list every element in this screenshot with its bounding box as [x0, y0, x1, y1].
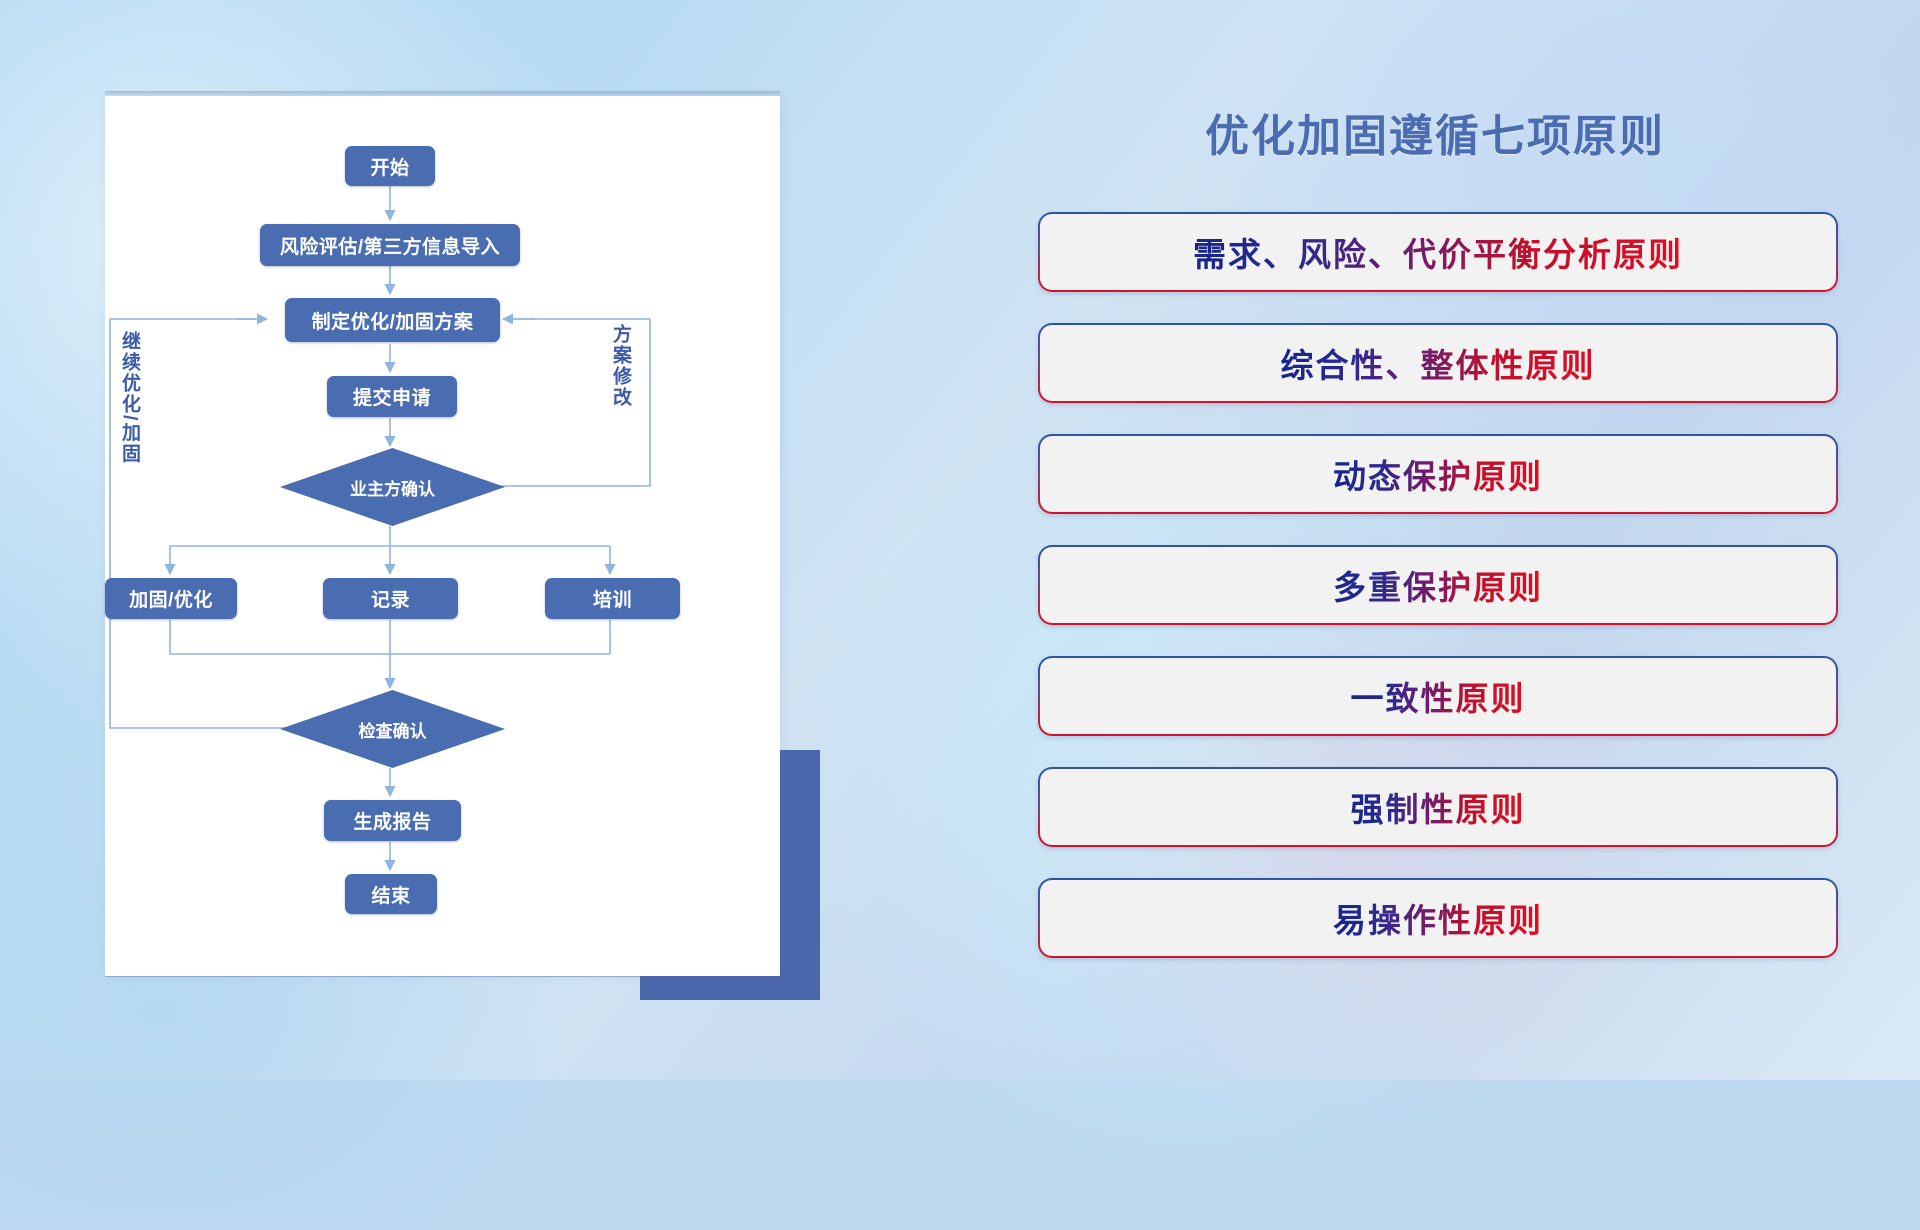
principles-panel: 优化加固遵循七项原则 需求、风险、代价平衡分析原则 综合性、整体性原则 动态保护… [1020, 100, 1850, 1000]
principle-label: 一致性原则 [1351, 672, 1526, 720]
principle-pill: 强制性原则 [1038, 767, 1838, 847]
principle-pill: 一致性原则 [1038, 656, 1838, 736]
principle-pill: 需求、风险、代价平衡分析原则 [1038, 212, 1838, 292]
principle-pill-inner: 易操作性原则 [1040, 880, 1836, 956]
flowchart: 开始 风险评估/第三方信息导入 制定优化/加固方案 提交申请 业主方确认 加固/… [105, 96, 780, 976]
principle-item-7[interactable]: 易操作性原则 [1038, 878, 1838, 958]
principle-item-5[interactable]: 一致性原则 [1038, 656, 1838, 736]
flowchart-card: 开始 风险评估/第三方信息导入 制定优化/加固方案 提交申请 业主方确认 加固/… [105, 96, 780, 976]
flow-node-check-confirm[interactable]: 检查确认 [280, 690, 505, 768]
flow-node-end[interactable]: 结束 [345, 874, 437, 914]
flow-node-reinforce[interactable]: 加固/优化 [105, 578, 237, 619]
principle-pill-inner: 综合性、整体性原则 [1040, 325, 1836, 401]
principle-label: 易操作性原则 [1333, 894, 1543, 942]
principle-pill-inner: 强制性原则 [1040, 769, 1836, 845]
flow-node-submit-application[interactable]: 提交申请 [327, 376, 457, 417]
principle-pill-inner: 动态保护原则 [1040, 436, 1836, 512]
principle-pill: 多重保护原则 [1038, 545, 1838, 625]
flow-node-owner-confirm[interactable]: 业主方确认 [280, 448, 505, 526]
panel-title: 优化加固遵循七项原则 [1020, 100, 1850, 164]
principle-pill: 综合性、整体性原则 [1038, 323, 1838, 403]
principle-item-2[interactable]: 综合性、整体性原则 [1038, 323, 1838, 403]
principle-pill-inner: 需求、风险、代价平衡分析原则 [1040, 214, 1836, 290]
principle-label: 强制性原则 [1351, 783, 1526, 831]
principle-item-4[interactable]: 多重保护原则 [1038, 545, 1838, 625]
flow-node-owner-confirm-label: 业主方确认 [350, 475, 435, 500]
flow-edge-label-plan-revision: 方案修改 [610, 324, 630, 408]
principle-label: 多重保护原则 [1333, 561, 1543, 609]
flow-node-check-confirm-label: 检查确认 [359, 717, 427, 742]
principle-item-3[interactable]: 动态保护原则 [1038, 434, 1838, 514]
principle-pill-inner: 多重保护原则 [1040, 547, 1836, 623]
flow-node-generate-report[interactable]: 生成报告 [324, 800, 461, 841]
principle-label: 动态保护原则 [1333, 450, 1543, 498]
flow-edge-label-continue-optimize: 继续优化/加固 [119, 331, 139, 464]
flow-node-risk-assessment[interactable]: 风险评估/第三方信息导入 [260, 224, 520, 266]
principle-label: 综合性、整体性原则 [1281, 339, 1596, 387]
principle-item-1[interactable]: 需求、风险、代价平衡分析原则 [1038, 212, 1838, 292]
principle-pill: 动态保护原则 [1038, 434, 1838, 514]
principle-label: 需求、风险、代价平衡分析原则 [1193, 228, 1683, 276]
principle-item-6[interactable]: 强制性原则 [1038, 767, 1838, 847]
flow-node-start[interactable]: 开始 [345, 146, 435, 186]
principle-pill-inner: 一致性原则 [1040, 658, 1836, 734]
flow-node-make-plan[interactable]: 制定优化/加固方案 [285, 298, 500, 342]
flow-node-record[interactable]: 记录 [323, 578, 458, 619]
flow-node-training[interactable]: 培训 [545, 578, 680, 619]
principle-pill: 易操作性原则 [1038, 878, 1838, 958]
